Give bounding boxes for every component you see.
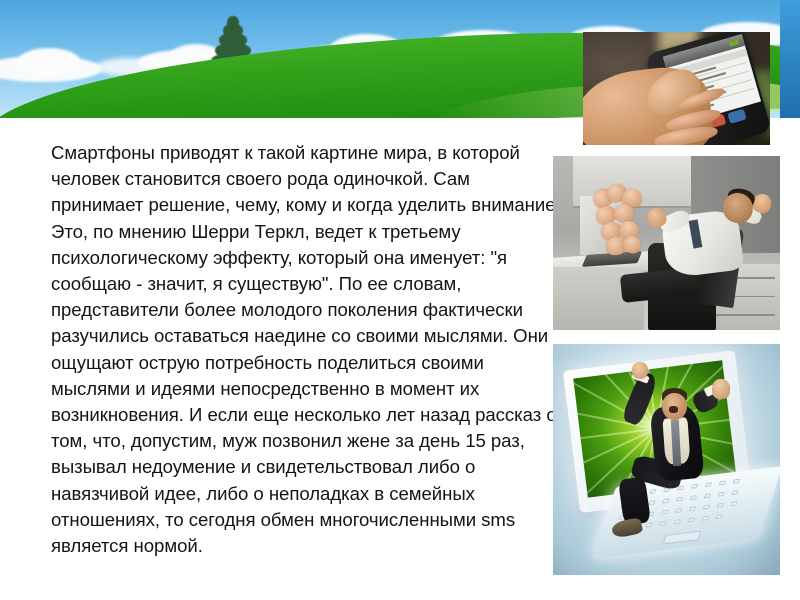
key — [690, 495, 697, 500]
key — [732, 489, 739, 494]
key — [715, 514, 722, 519]
key — [731, 501, 738, 506]
key — [733, 478, 740, 483]
key — [659, 521, 666, 526]
key — [717, 502, 724, 507]
key — [646, 522, 653, 527]
key — [662, 498, 669, 503]
key — [718, 491, 725, 496]
key — [691, 483, 698, 488]
key — [687, 517, 694, 522]
key — [673, 519, 680, 524]
key — [676, 496, 683, 501]
cloud-icon — [18, 48, 80, 74]
dock-icon-apps — [727, 108, 747, 124]
key — [661, 509, 668, 514]
raised-hand — [632, 362, 648, 378]
key — [704, 493, 711, 498]
slide-body-text: Смартфоны приводят к такой картине мира,… — [51, 140, 563, 559]
drawer-seam — [708, 314, 775, 316]
key — [649, 488, 656, 493]
key — [689, 506, 696, 511]
key — [675, 508, 682, 513]
key — [648, 500, 655, 505]
key — [703, 504, 710, 509]
key — [719, 480, 726, 485]
sky-edge-sliver — [780, 0, 800, 118]
photo-hand-holding-smartphone — [583, 32, 770, 145]
key — [705, 482, 712, 487]
open-mouth — [669, 406, 678, 413]
open-palm — [712, 379, 730, 400]
hands-reaching-from-monitor — [592, 184, 651, 268]
photo-man-scared-by-hands-from-monitor — [553, 156, 780, 330]
key — [701, 515, 708, 520]
reaching-hand — [614, 204, 635, 223]
photo-man-jumping-out-of-laptop — [553, 344, 780, 575]
